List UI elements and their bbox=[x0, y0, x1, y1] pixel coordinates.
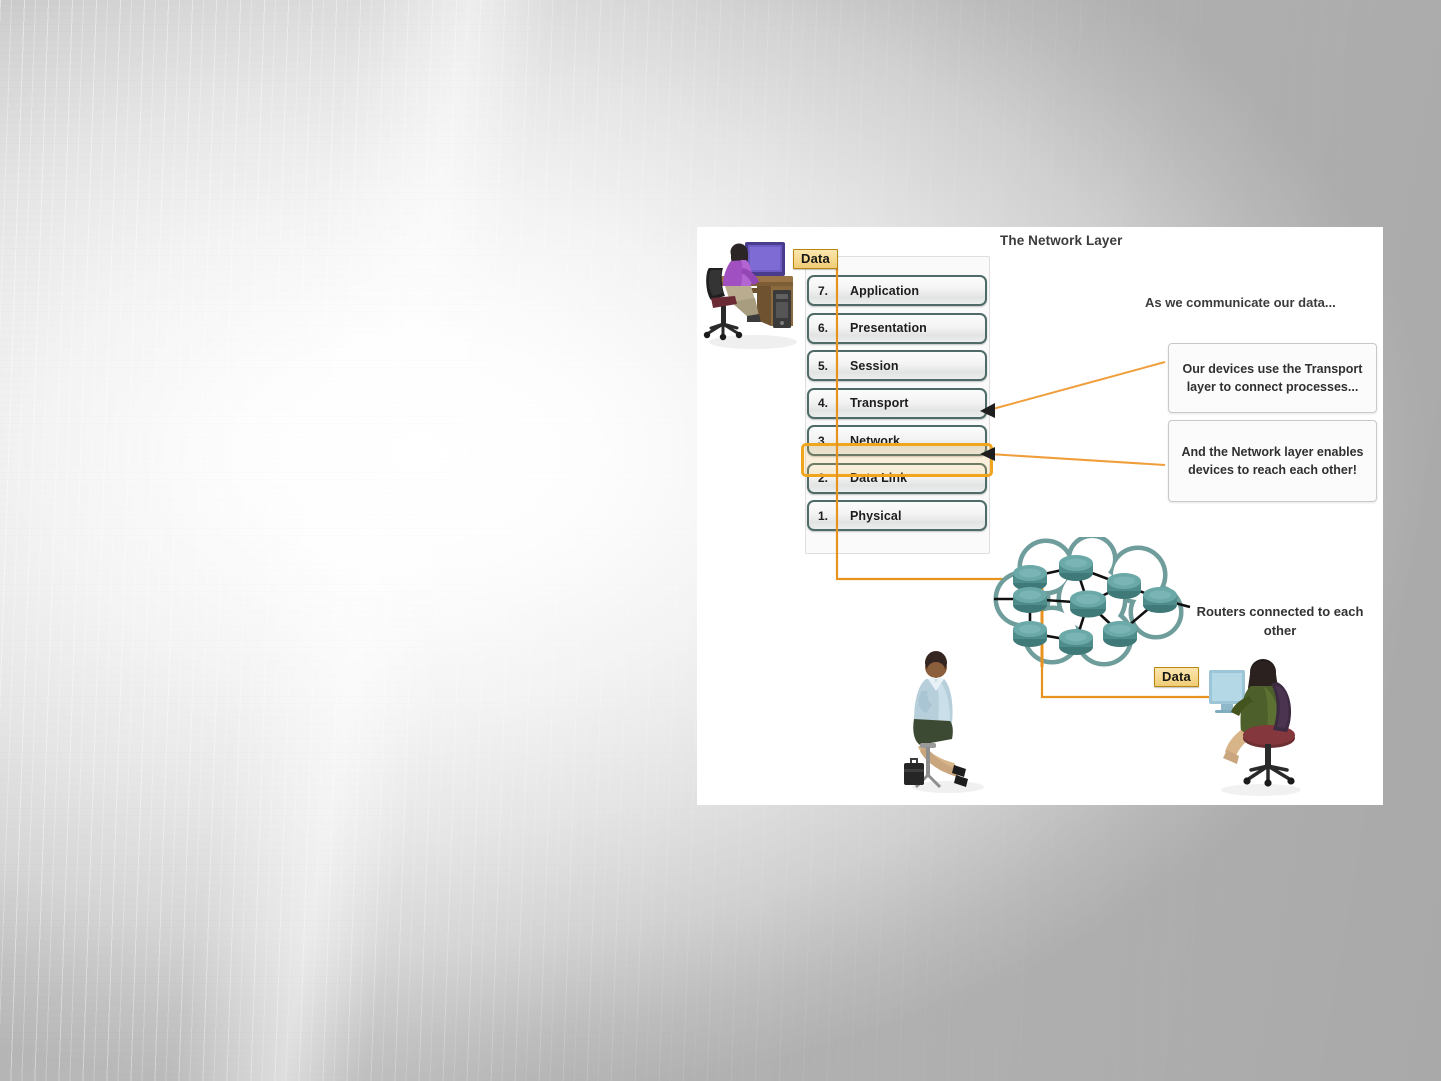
data-tag-sender: Data bbox=[793, 249, 838, 269]
diagram-title: The Network Layer bbox=[1000, 233, 1123, 248]
leader-line-transport bbox=[989, 362, 1165, 410]
seated-woman-illustration bbox=[902, 647, 990, 795]
osi-layer-label: Presentation bbox=[838, 315, 985, 342]
osi-layer-label: Session bbox=[838, 352, 985, 379]
seated-receiver-illustration bbox=[1207, 652, 1307, 797]
osi-layer-number: 5. bbox=[809, 352, 838, 379]
desk-computer-user-illustration bbox=[701, 230, 805, 350]
osi-layer-label: Application bbox=[838, 277, 985, 304]
callout-network: And the Network layer enables devices to… bbox=[1168, 420, 1377, 502]
osi-layer-number: 7. bbox=[809, 277, 838, 304]
osi-layer-number: 6. bbox=[809, 315, 838, 342]
network-layer-diagram-image: The Network Layer As we communicate our … bbox=[697, 227, 1383, 805]
osi-layer-session[interactable]: 5. Session bbox=[807, 350, 987, 381]
intro-text: As we communicate our data... bbox=[1145, 295, 1336, 310]
osi-layer-stack: 7. Application 6. Presentation 5. Sessio… bbox=[807, 275, 987, 531]
osi-layer-number: 4. bbox=[809, 390, 838, 417]
network-layer-highlight bbox=[801, 443, 993, 477]
osi-layer-presentation[interactable]: 6. Presentation bbox=[807, 313, 987, 344]
osi-layer-number: 1. bbox=[809, 502, 838, 529]
data-tag-receiver: Data bbox=[1154, 667, 1199, 687]
routers-label: Routers connected to each other bbox=[1193, 603, 1367, 641]
osi-layer-label: Transport bbox=[838, 390, 985, 417]
osi-layer-label: Physical bbox=[838, 502, 985, 529]
osi-layer-application[interactable]: 7. Application bbox=[807, 275, 987, 306]
osi-layer-transport[interactable]: 4. Transport bbox=[807, 388, 987, 419]
callout-transport: Our devices use the Transport layer to c… bbox=[1168, 343, 1377, 413]
router-cloud-illustration bbox=[992, 537, 1192, 667]
osi-layer-physical[interactable]: 1. Physical bbox=[807, 500, 987, 531]
leader-line-network bbox=[989, 454, 1165, 465]
